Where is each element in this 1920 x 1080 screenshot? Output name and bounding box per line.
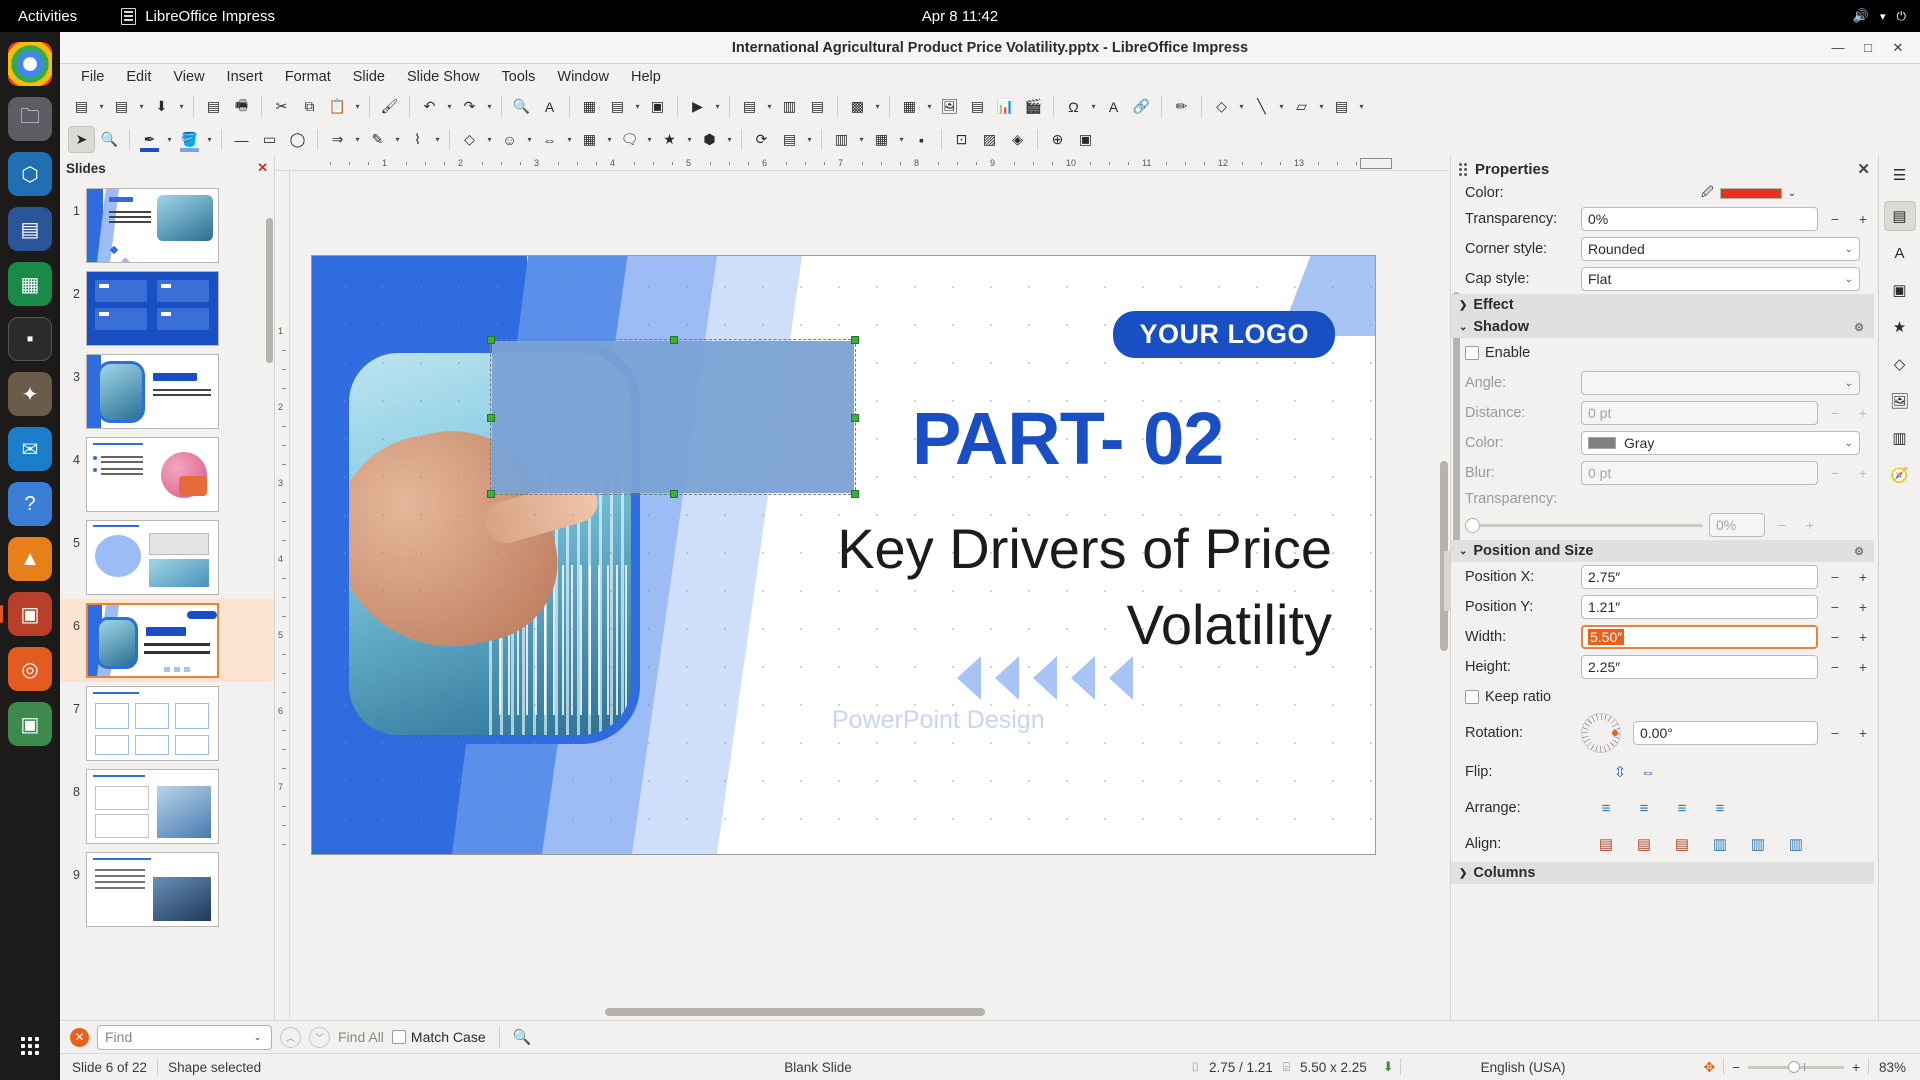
menu-tools[interactable]: Tools [491,66,547,88]
shadow-distance-field[interactable]: 0 pt [1581,401,1818,425]
ruler-tick [1014,162,1015,165]
dropdown-arrow-icon[interactable]: ▾ [524,126,535,153]
network-icon[interactable]: ▾ [1880,10,1886,23]
insert-hyperlink-icon[interactable]: 🔗 [1128,93,1155,120]
dropdown-arrow-icon[interactable]: ▾ [1356,93,1367,120]
ruler-tick [786,162,787,165]
ruler-tick [900,162,901,165]
slides-panel: Slides ✕ 123456789 [60,156,275,1020]
dropdown-arrow-icon[interactable]: ▾ [444,93,455,120]
keep-ratio-checkbox[interactable] [1465,690,1479,704]
slide-thumbnail-1[interactable]: 1 [60,184,274,267]
ruler-tick [282,616,286,617]
ruler-tick-label: 11 [1142,158,1151,168]
insert-image-icon[interactable]: 🖼 [936,93,963,120]
show-draw-functions-icon[interactable]: ✏ [1168,93,1195,120]
zoom-level[interactable]: 83% [1869,1060,1920,1075]
resize-handle-e[interactable] [851,414,859,422]
dropdown-arrow-icon[interactable]: ▾ [564,126,575,153]
sidebar-tab-master-slides[interactable]: ▥ [1884,423,1916,453]
clock[interactable]: Apr 8 11:42 [922,8,998,25]
section-position-and-size[interactable]: ⌄ Position and Size ⚙ [1451,540,1874,562]
menu-file[interactable]: File [70,66,115,88]
flowchart-icon[interactable]: ▦ [576,126,603,153]
align-objects-icon[interactable]: ▤ [1328,93,1355,120]
export-pdf-icon[interactable]: ▤ [200,93,227,120]
line-color-dropper-icon[interactable]: 🖉 [1701,183,1714,204]
zoom-in-button[interactable]: + [1844,1060,1868,1075]
paste-icon[interactable]: 📋 [324,93,351,120]
align-bottom-icon[interactable]: ▥ [1785,833,1807,855]
dock-help-icon[interactable]: ? [8,482,52,526]
insert-special-character-icon[interactable]: Ω [1060,93,1087,120]
dock-vscode-icon[interactable]: ⬡ [8,152,52,196]
filter-icon[interactable]: ▨ [976,126,1003,153]
align-top-icon[interactable]: ▥ [1709,833,1731,855]
toolbar-separator [501,96,502,117]
crop-icon[interactable]: ⊡ [948,126,975,153]
corner-style-value: Rounded [1588,241,1645,257]
slide-thumbnail-2[interactable]: 2 [60,267,274,350]
dock-vlc-icon[interactable]: ▲ [8,537,52,581]
slides-panel-header: Slides ✕ [60,156,274,180]
align-right-icon[interactable]: ▤ [1671,833,1693,855]
dock-calc-icon[interactable]: ▦ [8,262,52,306]
slides-panel-title: Slides [66,161,106,176]
send-to-back-icon[interactable]: ≡ [1709,797,1731,819]
distance-decrement[interactable]: − [1824,402,1846,424]
position-y-increment[interactable]: + [1852,596,1874,618]
glue-points-icon[interactable]: ⊕ [1044,126,1071,153]
ruler-tick [282,540,286,541]
cap-style-select[interactable]: Flat ⌄ [1581,267,1860,291]
shadow-transparency-field[interactable]: 0% [1709,513,1765,537]
find-replace-icon[interactable]: 🔍 [508,93,535,120]
ruler-tick [282,654,286,655]
match-case-checkbox[interactable] [392,1030,406,1044]
insert-chart-icon[interactable]: 📊 [992,93,1019,120]
3d-objects-icon[interactable]: ⬢ [696,126,723,153]
dropdown-arrow-icon[interactable]: ▾ [632,93,643,120]
search-input[interactable]: Find [97,1025,252,1050]
dropdown-arrow-icon[interactable]: ▾ [352,93,363,120]
basic-shapes-icon[interactable]: ◇ [1208,93,1235,120]
dropdown-arrow-icon[interactable]: ▾ [872,93,883,120]
ruler-tick [330,162,331,165]
dropdown-arrow-icon[interactable]: ▾ [432,126,443,153]
undo-icon[interactable]: ↶ [416,93,443,120]
rotate-icon[interactable]: ⟳ [748,126,775,153]
shadow-transparency-row: Transparency: [1451,488,1874,510]
dropdown-arrow-icon[interactable]: ▾ [1236,93,1247,120]
slide-thumbnail-7[interactable]: 7 [60,682,274,765]
redo-icon[interactable]: ↷ [456,93,483,120]
dropdown-arrow-icon[interactable]: ▾ [164,126,175,153]
maximize-button[interactable]: □ [1854,36,1882,60]
ruler-tick-label: 1 [382,158,387,168]
master-slide-icon[interactable]: ▣ [644,93,671,120]
ruler-tick [282,502,286,503]
dropdown-arrow-icon[interactable]: ▾ [96,93,107,120]
decor-triangle-1 [957,656,981,700]
line-transparency-field[interactable]: 0% [1581,207,1818,231]
sidebar-tab-shapes[interactable]: ◇ [1884,349,1916,379]
align-row: Align: ▤ ▤ ▤ ▥ ▥ ▥ [1451,826,1874,862]
dock-gimp-icon[interactable]: ✦ [8,372,52,416]
ruler-tick [425,162,426,165]
section-columns[interactable]: ❯ Columns [1451,862,1874,884]
height-increment[interactable]: + [1852,656,1874,678]
position-x-increment[interactable]: + [1852,566,1874,588]
ruler-tick-label: 3 [534,158,539,168]
start-from-first-slide-icon[interactable]: ▶ [684,93,711,120]
points-icon[interactable]: ◈ [1004,126,1031,153]
find-next-button[interactable]: ﹀ [309,1027,330,1048]
decor-triangle-3 [1033,656,1057,700]
duplicate-slide-icon[interactable]: ▥ [776,93,803,120]
rotation-increment[interactable]: + [1852,722,1874,744]
slide-thumbnail-6[interactable]: 6 [60,599,274,682]
dropdown-arrow-icon[interactable]: ▾ [644,126,655,153]
dock-writer-icon[interactable]: ▤ [8,207,52,251]
menu-edit[interactable]: Edit [115,66,162,88]
bring-to-front-icon[interactable]: ≡ [1595,797,1617,819]
height-input[interactable]: 2.25″ [1581,655,1818,679]
menu-window[interactable]: Window [546,66,620,88]
arrange-icon[interactable]: ▥ [828,126,855,153]
active-app-indicator[interactable]: LibreOffice Impress [121,8,275,25]
dropdown-arrow-icon[interactable]: ▾ [764,93,775,120]
ruler-tick [1052,162,1053,165]
dropdown-arrow-icon[interactable]: ▾ [392,126,403,153]
canvas-area[interactable]: 1234567 YOUR LOGO [275,171,1450,1020]
menu-format[interactable]: Format [274,66,342,88]
rotation-dial[interactable] [1581,713,1621,753]
cut-icon[interactable]: ✂ [268,93,295,120]
position-y-input[interactable]: 1.21″ [1581,595,1818,619]
ruler-tick [1090,162,1091,165]
toggle-extrusion-icon[interactable]: ▣ [1072,126,1099,153]
show-applications-button[interactable] [8,1024,52,1068]
delete-slide-icon[interactable]: ▤ [804,93,831,120]
slide-thumbnail-9[interactable]: 9 [60,848,274,931]
zoom-icon[interactable]: 🔍 [96,126,123,153]
dropdown-arrow-icon[interactable]: ▾ [1088,93,1099,120]
dropdown-arrow-icon[interactable]: ▾ [1276,93,1287,120]
slide-number: 7 [64,686,80,716]
panel-collapse-handle[interactable] [1444,551,1450,611]
bring-forward-icon[interactable]: ≡ [1633,797,1655,819]
height-decrement[interactable]: − [1824,656,1846,678]
dropdown-arrow-icon[interactable]: ▾ [856,126,867,153]
logo-badge[interactable]: YOUR LOGO [1113,311,1335,358]
chevron-down-icon[interactable]: ⌄ [244,1025,272,1050]
slide-thumbnail-3[interactable]: 3 [60,350,274,433]
dropdown-arrow-icon[interactable]: ▾ [604,126,615,153]
new-document-icon[interactable]: ▤ [68,93,95,120]
block-arrows-icon[interactable]: ⇔ [536,126,563,153]
window-titlebar: International Agricultural Product Price… [60,32,1920,64]
close-button[interactable]: ✕ [1884,36,1912,60]
dropdown-arrow-icon[interactable]: ▾ [352,126,363,153]
toolbar-separator [129,129,130,150]
save-icon[interactable]: ⬇ [148,93,175,120]
curves-polygons-icon[interactable]: ✎ [364,126,391,153]
ruler-tick [729,162,730,165]
drag-handle-icon[interactable] [1459,163,1467,176]
transparency-increment[interactable]: + [1852,208,1874,230]
slide-thumbnail-5[interactable]: 5 [60,516,274,599]
shadow-distance-label: Distance: [1465,405,1575,421]
dropdown-arrow-icon[interactable]: ▾ [136,93,147,120]
position-y-decrement[interactable]: − [1824,596,1846,618]
dropdown-arrow-icon[interactable]: ▾ [724,126,735,153]
sidebar-tab-gallery[interactable]: 🖼 [1884,386,1916,416]
symbol-shapes-icon[interactable]: ☺ [496,126,523,153]
corner-style-label: Corner style: [1465,241,1575,257]
ruler-tick-label: 3 [278,478,283,488]
sidebar-tab-properties[interactable]: ▤ [1884,201,1916,231]
sidebar-tab-slide-transition[interactable]: ▣ [1884,275,1916,305]
section-effect[interactable]: ❯ Effect [1451,294,1874,316]
ruler-indent-marker[interactable] [1360,158,1392,169]
dock-firefox-icon[interactable]: ◎ [8,647,52,691]
rectangle-icon[interactable]: ▭ [256,126,283,153]
slides-list[interactable]: 123456789 [60,180,274,1020]
toolbar-separator [369,96,370,117]
menu-bar: File Edit View Insert Format Slide Slide… [60,64,1920,90]
ruler-tick [1261,162,1262,165]
copy-icon[interactable]: ⧉ [296,93,323,120]
flip-vertically-icon[interactable]: ⇳ [1609,761,1631,783]
horizontal-scrollbar[interactable] [605,1008,985,1016]
display-views-icon[interactable]: ▤ [604,93,631,120]
dock-terminal-icon[interactable]: ▪ [8,317,52,361]
resize-handle-sw[interactable] [487,490,495,498]
dock-files-icon[interactable]: 🗀 [8,97,52,141]
close-find-icon[interactable]: ✕ [70,1028,89,1047]
spelling-icon[interactable]: A [536,93,563,120]
find-all-button[interactable]: Find All [338,1029,384,1045]
active-app-label: LibreOffice Impress [145,8,275,25]
resize-handle-nw[interactable] [487,336,495,344]
menu-slide-show[interactable]: Slide Show [396,66,491,88]
slide-thumbnail-preview [86,271,219,346]
activities-button[interactable]: Activities [0,8,91,25]
shadow-transparency-decrement[interactable]: − [1771,514,1793,536]
find-replace-icon[interactable]: 🔍 [513,1028,532,1046]
transparency-decrement[interactable]: − [1824,208,1846,230]
position-x-input[interactable]: 2.75″ [1581,565,1818,589]
zoom-slider[interactable] [1748,1066,1844,1069]
shadow-blur-field[interactable]: 0 pt [1581,461,1818,485]
match-case-label: Match Case [411,1029,486,1045]
slide-layout-icon[interactable]: ▩ [844,93,871,120]
sidebar-tab-character[interactable]: A [1884,238,1916,268]
width-value: 5.50″ [1588,629,1624,645]
width-decrement[interactable]: − [1824,626,1846,648]
rotation-input[interactable]: 0.00° [1633,721,1818,745]
section-shadow[interactable]: ⌄ Shadow ⚙ [1451,316,1874,338]
insert-fontwork-icon[interactable]: A [1100,93,1127,120]
width-increment[interactable]: + [1852,626,1874,648]
dropdown-arrow-icon[interactable]: ▾ [712,93,723,120]
print-icon[interactable]: 🖷 [228,93,255,120]
ruler-tick [881,162,882,165]
blur-increment[interactable]: + [1852,462,1874,484]
slide-heading[interactable]: Key Drivers of Price Volatility [712,511,1332,662]
flip-horizontally-icon[interactable]: ⇔ [1637,761,1659,783]
fit-to-window-icon[interactable]: ✥ [1695,1059,1723,1076]
resize-handle-w[interactable] [487,414,495,422]
minimize-button[interactable]: — [1824,36,1852,60]
dropdown-arrow-icon[interactable]: ▾ [684,126,695,153]
resize-handle-s[interactable] [670,490,678,498]
align-center-icon[interactable]: ▤ [1633,833,1655,855]
properties-body[interactable]: Color: 🖉 ⌄ Transparency: 0% − + Corner s… [1451,182,1878,1020]
resize-handle-se[interactable] [851,490,859,498]
dropdown-arrow-icon[interactable]: ▾ [1316,93,1327,120]
stars-icon[interactable]: ★ [656,126,683,153]
align-middle-icon[interactable]: ▥ [1747,833,1769,855]
menu-slide[interactable]: Slide [342,66,396,88]
line-color-icon[interactable]: ✒ [136,126,163,153]
resize-handle-ne[interactable] [851,336,859,344]
align-left-icon[interactable]: ▤ [1595,833,1617,855]
dropdown-arrow-icon[interactable]: ▾ [896,126,907,153]
vertical-ruler[interactable]: 1234567 [275,171,290,1020]
distribute-icon[interactable]: ▦ [868,126,895,153]
send-backward-icon[interactable]: ≡ [1671,797,1693,819]
close-icon[interactable]: ✕ [257,160,268,176]
ruler-tick [282,768,286,769]
slide-thumbnail-4[interactable]: 4 [60,433,274,516]
toolbar-separator [1037,129,1038,150]
sidebar-tab-navigator[interactable]: 🧭 [1884,460,1916,490]
display-grid-icon[interactable]: ▦ [576,93,603,120]
fit-slide-icon[interactable]: ⬇ [1377,1059,1400,1075]
toolbar-separator [741,129,742,150]
clone-formatting-icon[interactable]: 🖌 [376,93,403,120]
line-color-swatch [140,148,159,152]
shadow-color-value: Gray [1624,435,1654,451]
basic-shapes-icon[interactable]: ◇ [456,126,483,153]
menu-help[interactable]: Help [620,66,672,88]
find-previous-button[interactable]: ︿ [280,1027,301,1048]
horizontal-ruler[interactable]: 12345678910111213 [275,156,1450,171]
chevron-down-icon: ⌄ [1845,274,1853,285]
sidebar-tab-rail: ☰ ▤ A ▣ ★ ◇ 🖼 ▥ 🧭 [1878,156,1920,1020]
slide-info: Slide 6 of 22 [60,1060,157,1075]
system-tray[interactable]: 🔊 ▾ ⏻ [1853,8,1906,24]
insert-table-icon[interactable]: ▦ [896,93,923,120]
keep-ratio-label: Keep ratio [1485,689,1551,705]
select-icon[interactable]: ➤ [68,126,95,153]
width-input[interactable]: 5.50″ [1581,625,1818,649]
dock-chrome-icon[interactable] [8,42,52,86]
slides-scrollbar[interactable] [266,180,273,1020]
ruler-tick [282,692,286,693]
insert-line-icon[interactable]: — [228,126,255,153]
gear-icon[interactable]: ⚙ [1854,321,1864,334]
zoom-out-button[interactable]: − [1724,1060,1748,1075]
ellipse-icon[interactable]: ◯ [284,126,311,153]
blur-decrement[interactable]: − [1824,462,1846,484]
line-color-swatch[interactable] [1720,188,1782,199]
language-info[interactable]: English (USA) [1471,1060,1576,1075]
dock-software-icon[interactable]: ▣ [8,702,52,746]
gear-icon[interactable]: ⚙ [1854,545,1864,558]
arrow-icon[interactable]: ⇒ [324,126,351,153]
new-slide-icon[interactable]: ▤ [736,93,763,120]
close-icon[interactable]: ✕ [1857,160,1870,178]
corner-style-row: Corner style: Rounded ⌄ [1451,234,1874,264]
ruler-tick [577,162,578,165]
sidebar-tab-animation[interactable]: ★ [1884,312,1916,342]
callouts-icon[interactable]: 🗨 [616,126,643,153]
dock-impress-icon[interactable]: ▣ [8,592,52,636]
dropdown-arrow-icon[interactable]: ▾ [484,126,495,153]
sidebar-settings-icon[interactable]: ☰ [1884,160,1916,190]
resize-handle-n[interactable] [670,336,678,344]
corner-style-select[interactable]: Rounded ⌄ [1581,237,1860,261]
ruler-tick-label: 13 [1294,158,1304,168]
slide-thumbnail-8[interactable]: 8 [60,765,274,848]
shadow-icon[interactable]: ▪ [908,126,935,153]
volume-icon[interactable]: 🔊 [1853,8,1869,24]
rotation-row: Rotation: 0.00° − + [1451,712,1874,754]
insert-audio-video-icon[interactable]: 🎬 [1020,93,1047,120]
menu-insert[interactable]: Insert [216,66,274,88]
search-input-placeholder: Find [105,1029,132,1045]
menu-view[interactable]: View [162,66,215,88]
align-icon[interactable]: ▤ [776,126,803,153]
slide-canvas[interactable]: YOUR LOGO PART- 02 Key Drivers of Price … [311,255,1376,855]
position-x-decrement[interactable]: − [1824,566,1846,588]
shadow-transparency-increment[interactable]: + [1799,514,1821,536]
rotation-decrement[interactable]: − [1824,722,1846,744]
fill-color-icon[interactable]: 🪣 [176,126,203,153]
insert-line-icon[interactable]: ╲ [1248,93,1275,120]
toolbar-separator [409,96,410,117]
ruler-tick [976,162,977,165]
ruler-tick [282,749,286,750]
dock-thunderbird-icon[interactable]: ✉ [8,427,52,471]
part-label[interactable]: PART- 02 [912,396,1223,481]
insert-textbox-icon[interactable]: ▤ [964,93,991,120]
dropdown-arrow-icon[interactable]: ▾ [804,126,815,153]
ruler-tick [482,162,483,165]
dropdown-arrow-icon[interactable]: ▾ [204,126,215,153]
dropdown-arrow-icon[interactable]: ▾ [484,93,495,120]
shadow-enable-checkbox[interactable] [1465,346,1479,360]
transformations-icon[interactable]: ▱ [1288,93,1315,120]
dropdown-arrow-icon[interactable]: ▾ [176,93,187,120]
connectors-icon[interactable]: ⌇ [404,126,431,153]
window-title: International Agricultural Product Price… [732,40,1248,56]
ruler-tick [824,162,825,165]
grid-icon [21,1037,39,1055]
power-icon[interactable]: ⏻ [1897,9,1907,24]
chevron-down-icon[interactable]: ⌄ [1788,188,1796,199]
shadow-color-select[interactable]: Gray ⌄ [1581,431,1860,455]
distance-increment[interactable]: + [1852,402,1874,424]
shadow-transparency-slider[interactable] [1465,524,1703,527]
open-icon[interactable]: ▤ [108,93,135,120]
standard-toolbar: ▤▾▤▾⬇▾▤🖷✂⧉📋▾🖌↶▾↷▾🔍A▦▤▾▣▶▾▤▾▥▤▩▾▦▾🖼▤📊🎬Ω▾A… [60,90,1920,123]
shadow-angle-select[interactable]: ⌄ [1581,371,1860,395]
dropdown-arrow-icon[interactable]: ▾ [924,93,935,120]
